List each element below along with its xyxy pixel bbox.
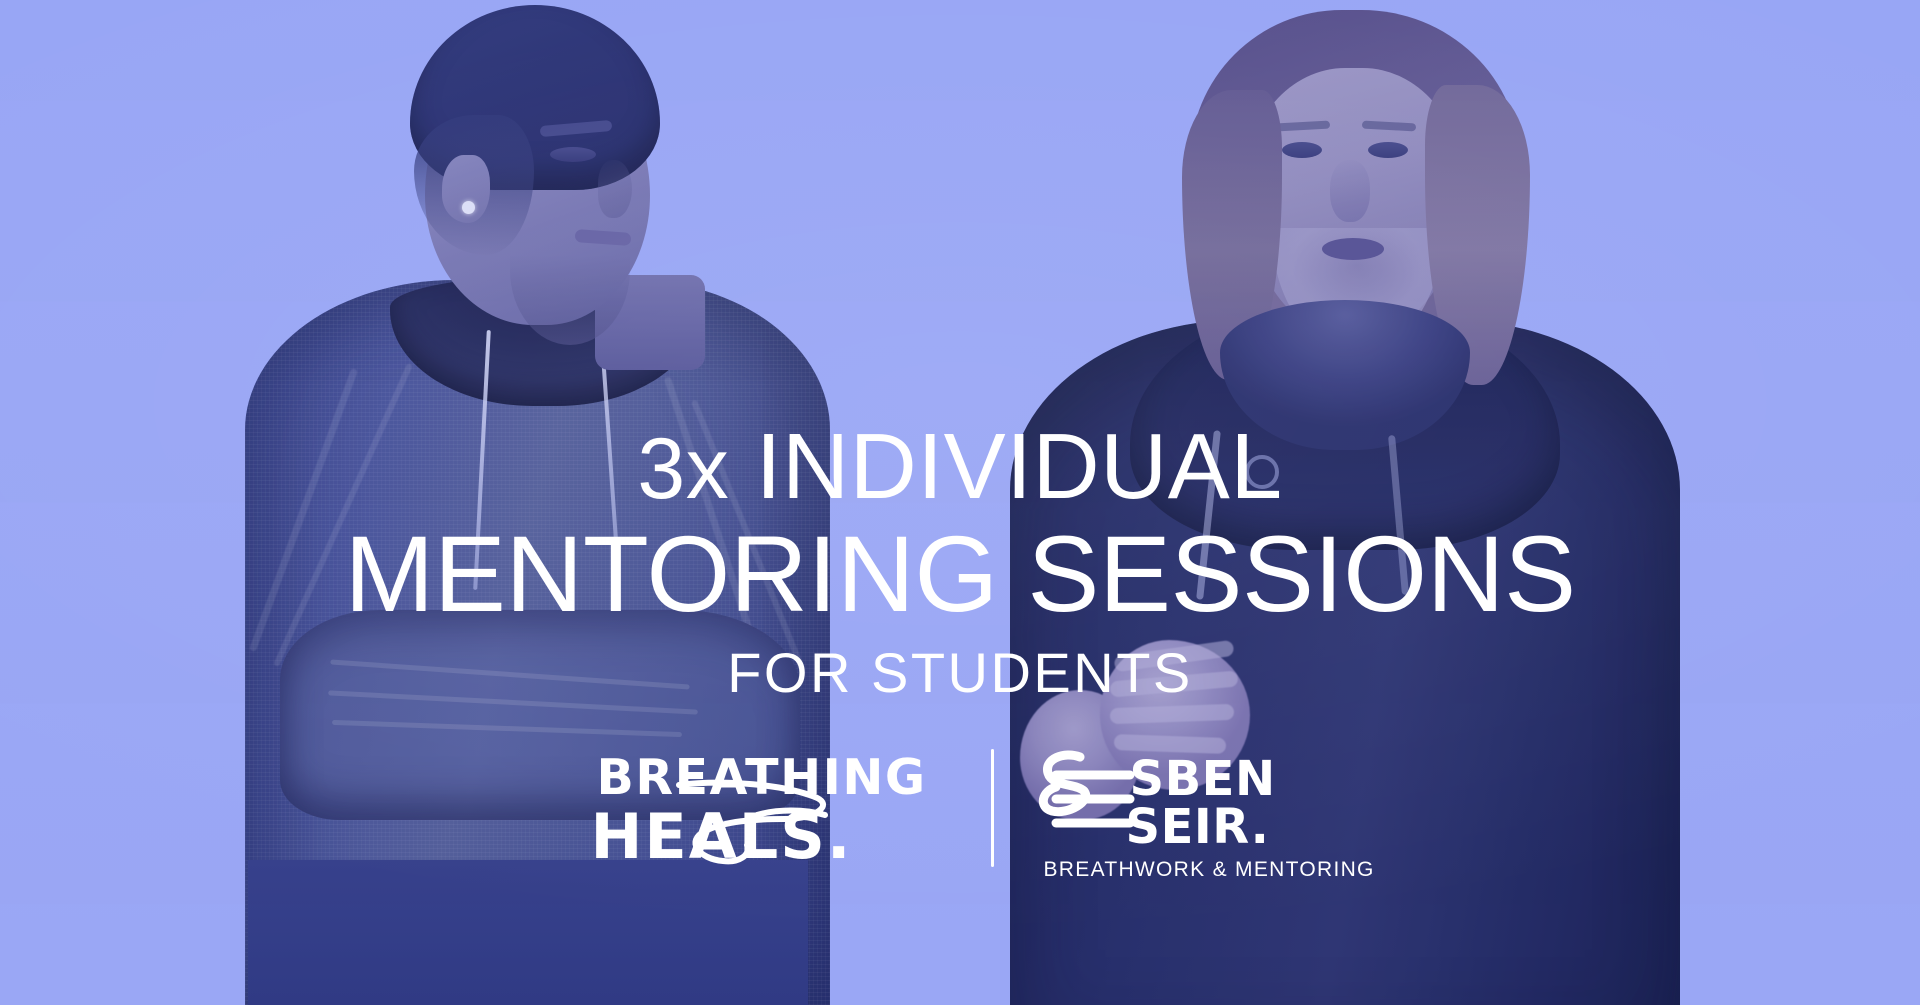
- student-head: [390, 5, 690, 335]
- student-nose: [598, 160, 632, 218]
- mentor-right: [1010, 0, 1690, 1005]
- video-thumbnail: 3x INDIVIDUAL MENTORING SESSIONS FOR STU…: [0, 0, 1920, 1005]
- mentor-eye: [1368, 142, 1408, 158]
- student-crossed-arms: [280, 610, 800, 820]
- student-eye: [550, 147, 596, 162]
- student-waist: [248, 860, 808, 1005]
- mentor-nose: [1330, 160, 1370, 222]
- earring-stud: [462, 201, 475, 214]
- student-left: [240, 0, 840, 1005]
- hoodie-eyelet: [1245, 455, 1279, 489]
- mentor-mouth: [1322, 238, 1384, 260]
- mentor-eye: [1282, 142, 1322, 158]
